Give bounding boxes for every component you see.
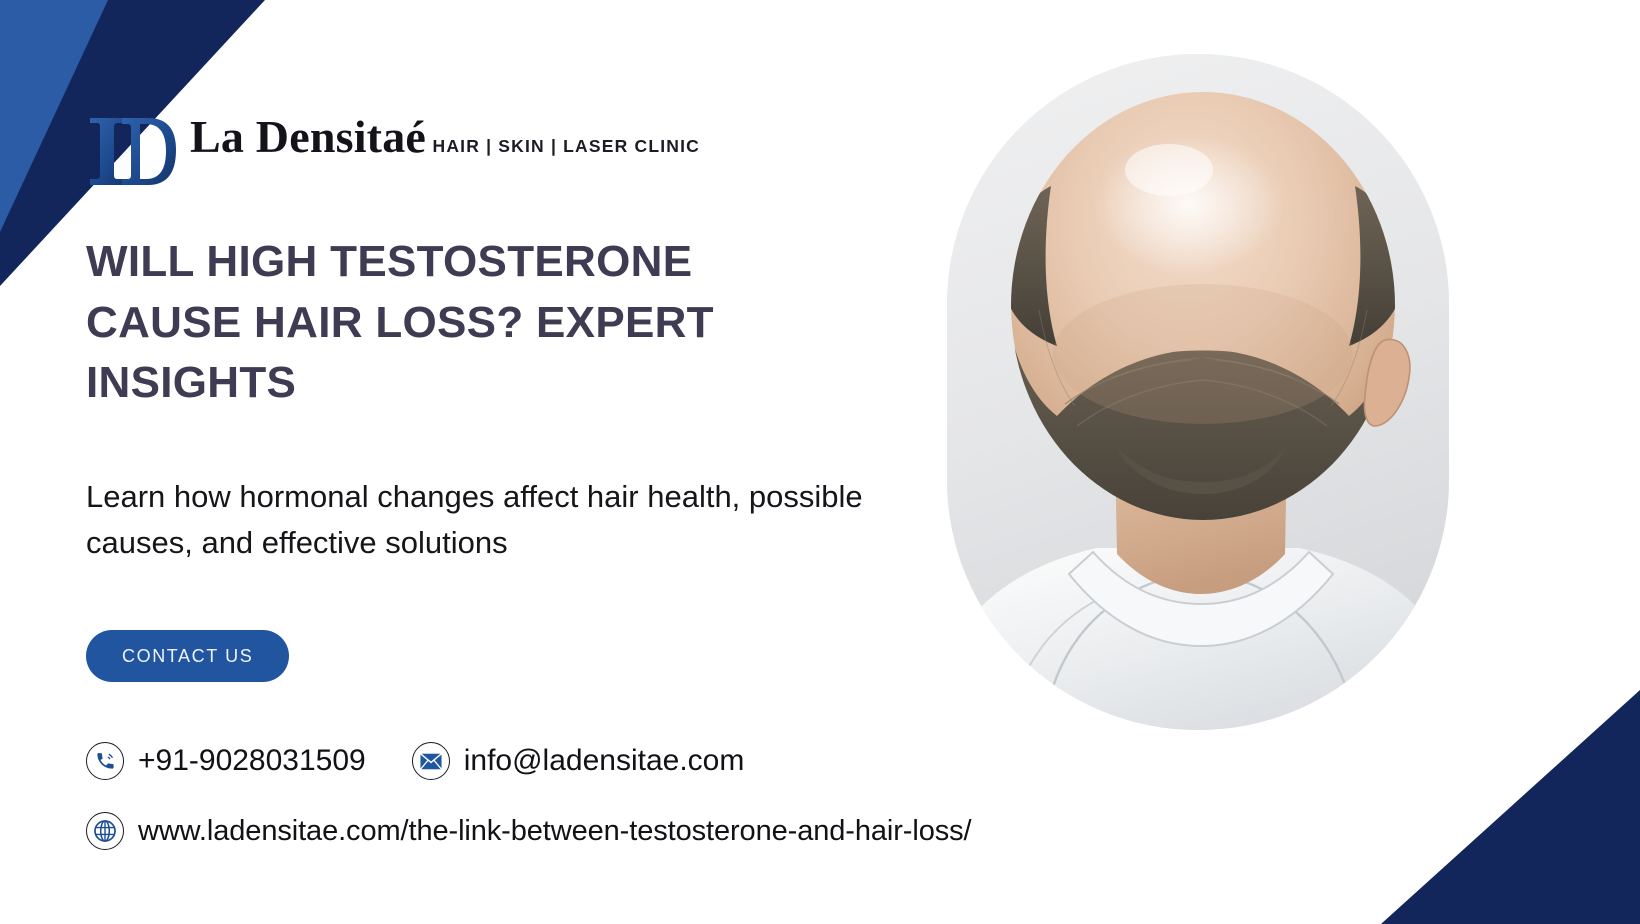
page-subtitle: Learn how hormonal changes affect hair h… [86, 474, 876, 566]
website-contact[interactable]: www.ladensitae.com/the-link-between-test… [86, 812, 971, 850]
phone-number: +91-9028031509 [138, 744, 366, 778]
email-address: info@ladensitae.com [464, 744, 745, 778]
contact-us-button[interactable]: CONTACT US [86, 630, 289, 682]
website-row[interactable]: www.ladensitae.com/the-link-between-test… [86, 812, 971, 850]
brand-wordmark: La Densitaé HAIR | SKIN | LASER CLINIC [190, 110, 700, 160]
balding-head-rear-view-photo [947, 54, 1449, 730]
envelope-icon [412, 742, 450, 780]
brand-logo: La Densitaé HAIR | SKIN | LASER CLINIC [86, 110, 700, 190]
page-title: WILL HIGH TESTOSTERONE CAUSE HAIR LOSS? … [86, 232, 831, 414]
website-url: www.ladensitae.com/the-link-between-test… [138, 815, 971, 848]
poster-canvas: La Densitaé HAIR | SKIN | LASER CLINIC W… [0, 0, 1640, 924]
globe-icon [86, 812, 124, 850]
phone-icon [86, 742, 124, 780]
email-contact[interactable]: info@ladensitae.com [412, 742, 745, 780]
left-content-column: La Densitaé HAIR | SKIN | LASER CLINIC W… [86, 0, 926, 924]
brand-tagline: HAIR | SKIN | LASER CLINIC [432, 136, 700, 156]
brand-name: La Densitaé [190, 111, 426, 162]
contact-details-row: +91-9028031509 info@ladensitae.com [86, 742, 744, 780]
ld-monogram-icon [86, 110, 178, 190]
phone-contact[interactable]: +91-9028031509 [86, 742, 366, 780]
